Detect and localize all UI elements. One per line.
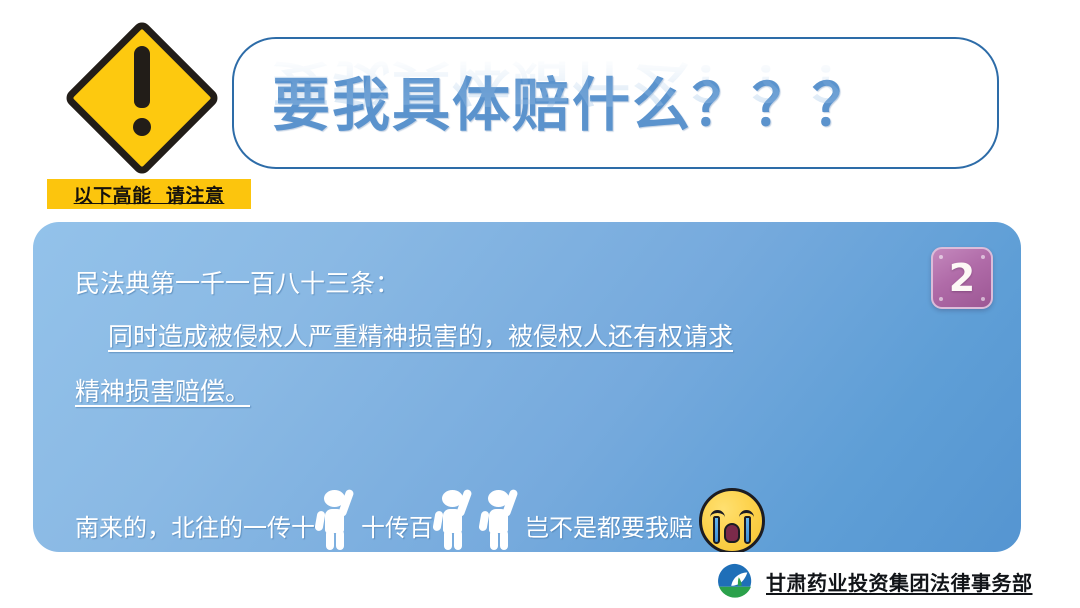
exclamation-dot-icon — [133, 118, 151, 136]
person-raising-hand-icon — [479, 488, 525, 550]
caution-label: 以下高能 请注意 — [47, 179, 251, 209]
leaf-circle-logo-icon — [716, 562, 754, 600]
footer-brand: 甘肃药业投资集团法律事务部 — [716, 562, 1033, 600]
person-raising-hand-icon — [315, 488, 361, 550]
page-title: 要我具体赔什么？？？ — [272, 58, 972, 142]
narration-part-3: 岂不是都要我赔 — [525, 516, 693, 550]
person-raising-hand-icon — [433, 488, 479, 550]
narration-row: 南来的，北往的一传十 十传百 岂不是都要我赔 — [75, 486, 765, 550]
step-number-badge: 2 — [931, 247, 993, 309]
content-panel: 民法典第一千一百八十三条： 同时造成被侵权人严重精神损害的，被侵权人还有权请求 … — [33, 222, 1021, 552]
law-article-heading: 民法典第一千一百八十三条： — [75, 264, 400, 300]
warning-sign — [68, 18, 216, 178]
step-number-text: 2 — [949, 259, 975, 297]
law-quote-line-2: 精神损害赔偿。 — [75, 372, 250, 408]
narration-part-1: 南来的，北往的一传十 — [75, 516, 315, 550]
exclamation-stem-icon — [134, 46, 150, 108]
narration-part-2: 十传百 — [361, 516, 433, 550]
law-quote-line-1: 同时造成被侵权人严重精神损害的，被侵权人还有权请求 — [108, 317, 733, 353]
caution-label-text: 以下高能 请注意 — [74, 181, 225, 208]
loudly-crying-face-icon — [699, 488, 765, 552]
footer-brand-text: 甘肃药业投资集团法律事务部 — [766, 567, 1033, 596]
